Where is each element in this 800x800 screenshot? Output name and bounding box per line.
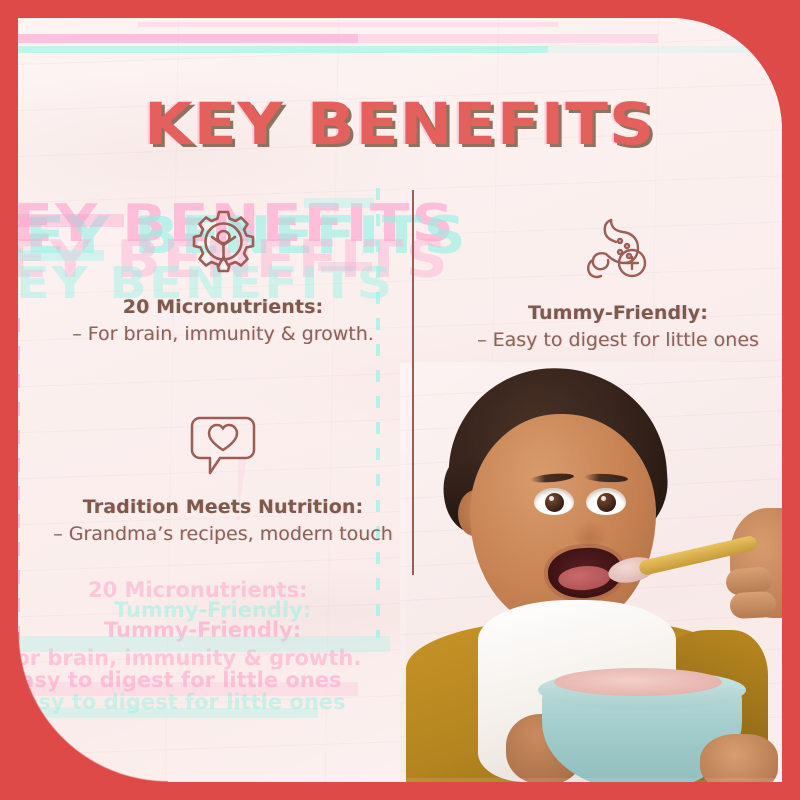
- baby-pupil-right: [597, 493, 616, 512]
- poster-canvas: KEY BENEFITS KEY BENEFITS KEY BENEFITS K…: [0, 0, 800, 800]
- benefit-item-micronutrients: 20 Micronutrients: – For brain, immunity…: [28, 202, 418, 346]
- glitch-bar: [358, 34, 658, 43]
- benefit-description: – Grandma’s recipes, modern touch: [28, 522, 418, 546]
- baby-face: [470, 414, 656, 628]
- card-bottom-left-notch: [18, 632, 168, 782]
- glitch-bar: [18, 636, 390, 652]
- benefit-title: Tradition Meets Nutrition:: [28, 496, 418, 520]
- benefit-item-tummy-friendly: Tummy-Friendly: – Easy to digest for lit…: [422, 208, 782, 352]
- heart-speech-bubble-icon: [28, 402, 418, 486]
- glitch-bar: [18, 708, 318, 718]
- glitch-bar: [548, 46, 778, 53]
- ghost-echo-4a: – Easy to digest for little ones: [18, 668, 342, 692]
- glitch-bar: [138, 22, 558, 27]
- title-container: KEY BENEFITS: [18, 90, 782, 158]
- glitch-dashed-column: [18, 318, 20, 648]
- benefit-description: – Easy to digest for little ones: [422, 328, 782, 352]
- poster-card: KEY BENEFITS KEY BENEFITS KEY BENEFITS K…: [18, 18, 782, 782]
- page-title: KEY BENEFITS: [144, 90, 655, 158]
- ghost-echo-4b: – Easy to digest for little ones: [18, 690, 346, 714]
- baby-eye-right: [586, 488, 626, 515]
- baby-nose: [572, 520, 608, 546]
- glitch-bar: [18, 682, 358, 696]
- ghost-echo-2b: Tummy-Friendly:: [104, 618, 301, 642]
- stomach-health-icon: [422, 208, 782, 292]
- benefit-description: – For brain, immunity & growth.: [28, 322, 418, 346]
- gear-person-icon: [28, 202, 418, 286]
- photo-inner: [400, 362, 782, 782]
- benefit-title: 20 Micronutrients:: [28, 296, 418, 320]
- ghost-echo-1: 20 Micronutrients:: [88, 578, 308, 602]
- baby-hand-right: [700, 734, 778, 782]
- ghost-echo-2a: Tummy-Friendly:: [114, 598, 311, 622]
- baby-tongue: [558, 564, 612, 592]
- caregiver-finger: [729, 591, 776, 619]
- baby-pupil-left: [545, 493, 564, 512]
- benefit-item-tradition: Tradition Meets Nutrition: – Grandma’s r…: [28, 402, 418, 546]
- glitch-bar: [18, 34, 358, 43]
- baby-eye-left: [534, 488, 574, 515]
- bowl-rim: [538, 670, 746, 710]
- porridge: [554, 668, 722, 696]
- baby-feeding-photo: [400, 362, 782, 782]
- glitch-bar: [18, 46, 548, 53]
- benefit-title: Tummy-Friendly:: [422, 302, 782, 326]
- ghost-echo-3: – For brain, immunity & growth.: [18, 646, 361, 670]
